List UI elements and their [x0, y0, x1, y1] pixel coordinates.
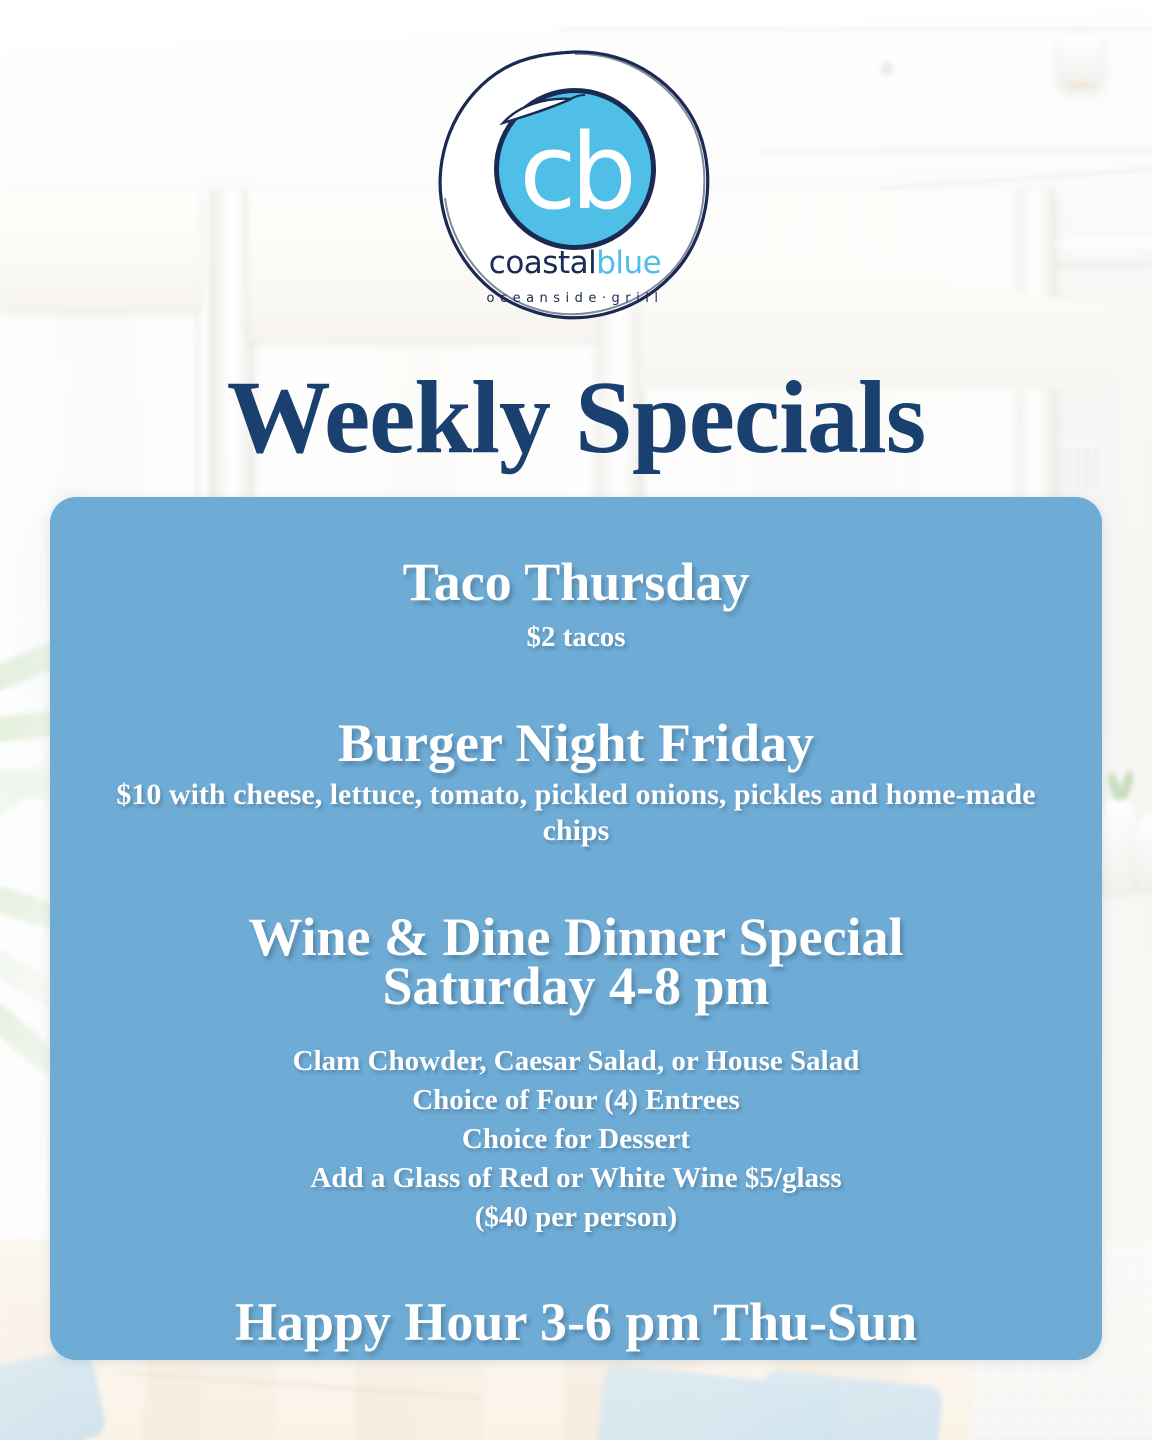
wordmark-coastal: coastal: [489, 245, 596, 281]
cb-monogram-letters: cb: [519, 120, 630, 224]
wine-dine-detail-line: Choice of Four (4) Entrees: [76, 1081, 1076, 1120]
wordmark-blue: blue: [596, 245, 661, 281]
special-title-burger-night: Burger Night Friday: [76, 716, 1076, 771]
coastal-blue-logo: cb coastalblue oceanside·grill: [435, 48, 715, 328]
logo-tagline: oceanside·grill: [435, 291, 715, 306]
specials-panel: Taco Thursday $2 tacos Burger Night Frid…: [50, 497, 1102, 1360]
special-subtitle-taco-thursday: $2 tacos: [76, 620, 1076, 654]
wine-dine-details: Clam Chowder, Caesar Salad, or House Sal…: [76, 1042, 1076, 1236]
wine-dine-detail-line: Add a Glass of Red or White Wine $5/glas…: [76, 1159, 1076, 1198]
specials-content: Taco Thursday $2 tacos Burger Night Frid…: [50, 497, 1102, 1360]
logo-content: cb coastalblue oceanside·grill: [435, 48, 715, 328]
leaf-icon: [499, 93, 585, 131]
cb-monogram-circle: cb: [494, 88, 656, 250]
special-title-wine-dine-line2: Saturday 4-8 pm: [76, 959, 1076, 1014]
wine-dine-detail-line: Clam Chowder, Caesar Salad, or House Sal…: [76, 1042, 1076, 1081]
happy-hour-text: Happy Hour 3-6 pm Thu-Sun: [76, 1295, 1076, 1350]
page-title: Weekly Specials: [0, 366, 1152, 470]
wine-dine-detail-line: Choice for Dessert: [76, 1120, 1076, 1159]
logo-wordmark: coastalblue: [435, 248, 715, 279]
special-title-taco-thursday: Taco Thursday: [76, 555, 1076, 610]
special-subtitle-burger-night: $10 with cheese, lettuce, tomato, pickle…: [76, 777, 1076, 848]
wine-dine-detail-line: ($40 per person): [76, 1198, 1076, 1237]
